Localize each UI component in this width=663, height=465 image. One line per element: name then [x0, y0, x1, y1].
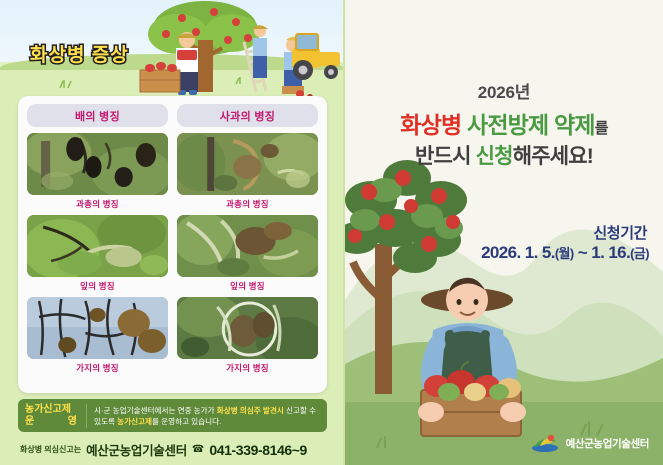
period-start-date: 2026. 1. 5. [481, 243, 555, 262]
symptom-caption: 가지의 병징 [27, 359, 168, 376]
symptom-row: 잎의 병징 [27, 215, 318, 294]
symptom-cell-pear-branch: 가지의 병징 [27, 297, 168, 376]
symptom-photo [177, 215, 318, 277]
page-title: 화상병 증상 [30, 40, 129, 67]
report-text-highlight-1: 화상병 의심주 발견시 [217, 406, 284, 415]
symptom-row: 과총의 병징 [27, 133, 318, 212]
report-text-c: 를 운영하고 있습니다. [152, 417, 221, 426]
contact-telephone: 041-339-8146~9 [209, 442, 307, 458]
symptom-photo [27, 133, 168, 195]
agency-emblem-icon [530, 433, 560, 453]
symptom-caption: 잎의 병징 [177, 277, 318, 294]
agency-name: 예산군농업기술센터 [566, 436, 649, 451]
column-header-apple: 사과의 병징 [177, 104, 318, 127]
contact-prefix: 화상병 의심신고는 [20, 444, 81, 455]
headline-suffix-1: 를 [595, 120, 608, 137]
announcement-headline-line2: 반드시 신청해주세요! [345, 140, 663, 170]
application-period-label: 신청기간 [593, 222, 647, 243]
report-label-line2-a: 운 [25, 416, 34, 428]
farm-report-system-bar: 농가신고제 운 영 시·군 농업기술센터에서는 연중 농가가 화상병 의심주 발… [18, 399, 327, 432]
symptom-caption: 과총의 병징 [27, 195, 168, 212]
symptom-row: 가지의 병징 [27, 297, 318, 376]
right-panel-announcement: 2026년 화상병 사전방제 약제를 반드시 신청해주세요! 신청기간 2026… [345, 0, 663, 465]
contact-line: 화상병 의심신고는 예산군농업기술센터 ☎ 041-339-8146~9 [20, 440, 330, 459]
symptom-photo-grid: 과총의 병징 [27, 133, 318, 376]
headline-apply-word: 신청 [476, 145, 513, 168]
symptom-cell-apple-branch: 가지의 병징 [177, 297, 318, 376]
agency-logo-row: 예산군농업기술센터 [530, 433, 649, 453]
symptom-photo [27, 215, 168, 277]
symptom-photo [27, 297, 168, 359]
period-end-weekday: (금) [630, 246, 649, 261]
headline-prefix-2: 반드시 [415, 145, 476, 168]
poster-root: 화상병 증상 배의 병징 사과의 병징 [0, 0, 663, 465]
report-system-description: 시·군 농업기술센터에서는 연중 농가가 화상병 의심주 발견시 신고할 수 있… [87, 405, 320, 427]
symptom-grid-card: 배의 병징 사과의 병징 [18, 96, 327, 393]
left-panel-symptoms: 화상병 증상 배의 병징 사과의 병징 [0, 0, 345, 465]
headline-disease-name: 화상병 [400, 112, 461, 138]
report-label-line2-b: 영 [68, 416, 77, 428]
symptom-caption: 잎의 병징 [27, 277, 168, 294]
period-separator: ~ 1. 16. [574, 243, 631, 262]
headline-treatment-name: 사전방제 약제 [467, 112, 595, 138]
symptom-caption: 과총의 병징 [177, 195, 318, 212]
report-label-line2: 운 영 [25, 416, 77, 428]
report-system-label: 농가신고제 운 영 [25, 404, 87, 428]
report-text-a: 시·군 농업기술센터에서는 연중 농가가 [94, 406, 217, 415]
contact-organization: 예산군농업기술센터 [86, 440, 187, 459]
period-start-weekday: (월) [555, 246, 574, 261]
report-text-highlight-2: 농가신고제 [117, 417, 152, 426]
symptom-photo [177, 133, 318, 195]
symptom-cell-pear-leaf: 잎의 병징 [27, 215, 168, 294]
symptom-column-headers: 배의 병징 사과의 병징 [27, 104, 318, 127]
symptom-caption: 가지의 병징 [177, 359, 318, 376]
symptom-cell-apple-cluster: 과총의 병징 [177, 133, 318, 212]
column-header-pear: 배의 병징 [27, 104, 168, 127]
headline-suffix-2: 해주세요! [513, 145, 593, 168]
symptom-cell-pear-cluster: 과총의 병징 [27, 133, 168, 212]
symptom-cell-apple-leaf: 잎의 병징 [177, 215, 318, 294]
report-label-line1: 농가신고제 [25, 404, 81, 416]
announcement-headline-line1: 화상병 사전방제 약제를 [345, 106, 663, 140]
announcement-year: 2026년 [345, 78, 663, 103]
application-period-value: 2026. 1. 5.(월) ~ 1. 16.(금) [481, 243, 649, 263]
phone-icon: ☎ [192, 444, 204, 455]
symptom-photo [177, 297, 318, 359]
